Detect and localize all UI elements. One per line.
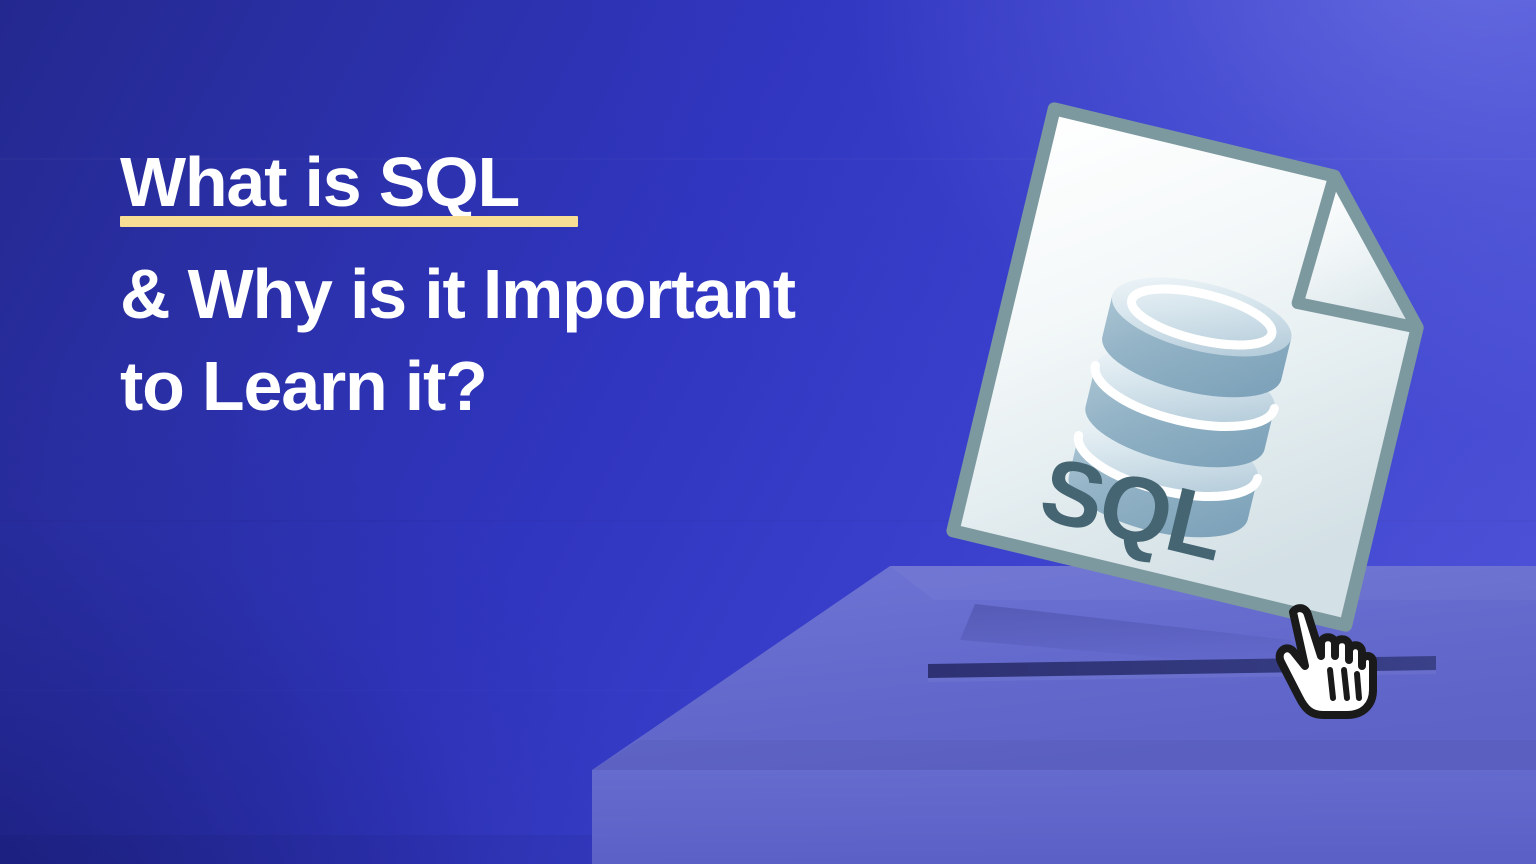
title-line-3: to Learn it? bbox=[120, 340, 940, 432]
hand-pointer-icon bbox=[1280, 608, 1373, 715]
accent-underline bbox=[120, 216, 578, 227]
ballot-box-front-face bbox=[592, 770, 1536, 864]
title-card-canvas: SQL What is SQL & Why is it Important to… bbox=[0, 0, 1536, 864]
title-block: What is SQL & Why is it Important to Lea… bbox=[120, 136, 940, 432]
title-line-1-text: What is SQL bbox=[120, 143, 519, 221]
pointing-hand-cursor[interactable] bbox=[1271, 604, 1383, 720]
title-line-1: What is SQL bbox=[120, 136, 940, 228]
ballot-box-shade bbox=[592, 740, 1536, 770]
title-line-2: & Why is it Important bbox=[120, 248, 940, 340]
